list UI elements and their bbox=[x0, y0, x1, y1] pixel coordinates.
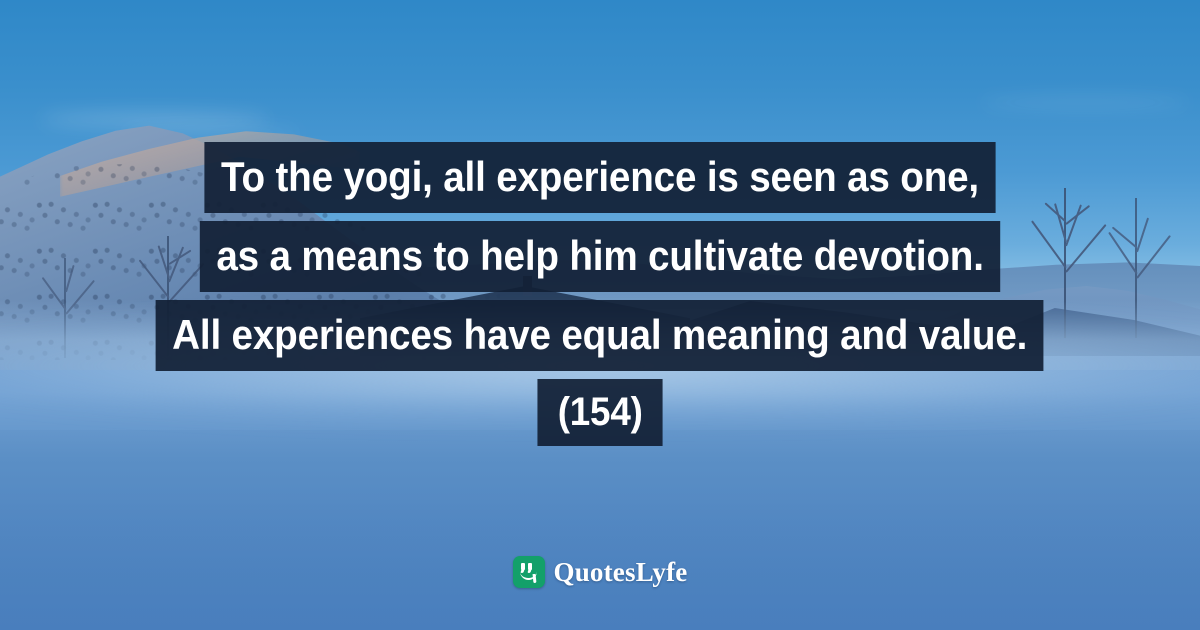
cloud-streak bbox=[980, 96, 1190, 109]
brand-logo[interactable]: QuotesLyfe bbox=[0, 556, 1200, 588]
cloud-streak bbox=[40, 112, 270, 127]
quote-card: To the yogi, all experience is seen as o… bbox=[0, 0, 1200, 630]
quote-line-2: as a means to help him cultivate devotio… bbox=[200, 221, 1001, 292]
brand-name: QuotesLyfe bbox=[554, 557, 688, 588]
quote-line-3: All experiences have equal meaning and v… bbox=[156, 300, 1044, 371]
quote-text-block: To the yogi, all experience is seen as o… bbox=[0, 142, 1200, 446]
quote-line-1: To the yogi, all experience is seen as o… bbox=[204, 142, 995, 213]
quote-reference: (154) bbox=[537, 379, 662, 446]
snow-shadow bbox=[0, 430, 1200, 630]
smiley-quote-icon bbox=[513, 556, 545, 588]
